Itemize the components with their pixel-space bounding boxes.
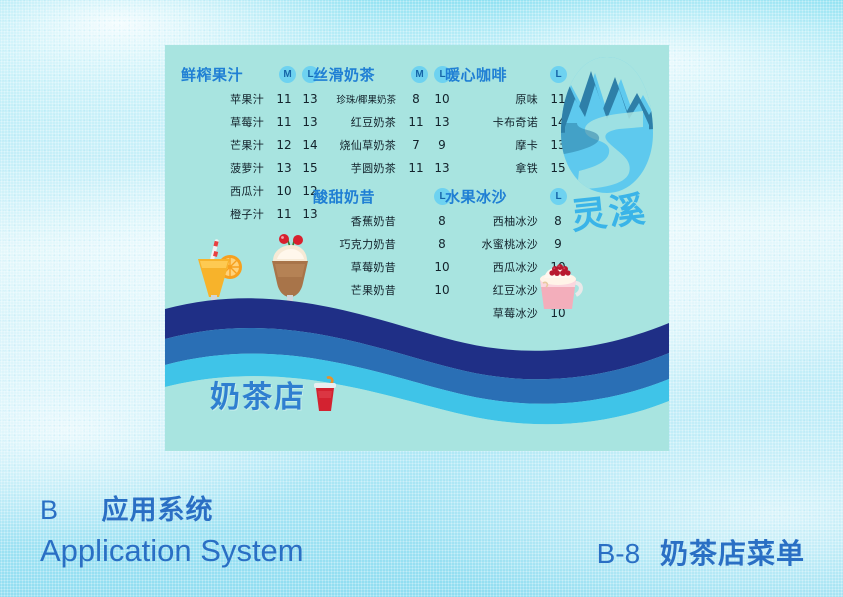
item-price-m: 12	[273, 138, 295, 152]
plate-title: 奶茶店菜单	[660, 538, 805, 569]
item-name: 苹果汁	[181, 91, 273, 107]
plate-code: B-8	[597, 538, 641, 569]
shop-name-block: 奶茶店	[210, 372, 340, 416]
item-price-m: 11	[273, 115, 295, 129]
item-name: 草莓奶昔	[313, 259, 405, 275]
size-badge-m: M	[279, 66, 296, 83]
section-title: 酸甜奶昔	[313, 186, 375, 207]
menu-item: 橙子汁 11 13	[181, 202, 321, 225]
wave-band	[165, 283, 669, 451]
section-heading: B 应用系统	[40, 488, 304, 527]
menu-item: 香蕉奶昔 8	[313, 209, 453, 232]
item-name: 西柚冰沙	[445, 213, 547, 229]
section-title: 丝滑奶茶	[313, 64, 375, 85]
item-name: 芒果汁	[181, 137, 273, 153]
section-title-cn: 应用系统	[102, 495, 214, 525]
item-name: 烧仙草奶茶	[313, 137, 405, 153]
section-header-milkshake: 酸甜奶昔 L	[313, 183, 453, 209]
caption-right: B-8 奶茶店菜单	[597, 532, 805, 572]
menu-item: 西瓜汁 10 12	[181, 179, 321, 202]
menu-item: 草莓汁 11 13	[181, 110, 321, 133]
item-price-m: 11	[273, 92, 295, 106]
menu-column-2: 丝滑奶茶 M L 珍珠/椰果奶茶 8 10 红豆奶茶 11 13 烧仙草奶茶 7…	[313, 61, 453, 301]
caption-left: B 应用系统 Application System	[40, 488, 304, 569]
menu-item: 草莓奶昔 10	[313, 255, 453, 278]
menu-item: 芒果汁 12 14	[181, 133, 321, 156]
mountain-stream-logo-icon	[559, 55, 655, 195]
item-name: 拿铁	[445, 160, 547, 176]
item-name: 卡布奇诺	[445, 114, 547, 130]
item-price-m: 10	[273, 184, 295, 198]
item-price-m: 11	[273, 207, 295, 221]
section-title: 水果冰沙	[445, 186, 507, 207]
item-price-m: 11	[405, 115, 427, 129]
size-badge-m: M	[411, 66, 428, 83]
item-name: 摩卡	[445, 137, 547, 153]
menu-column-1: 鲜榨果汁 M L 苹果汁 11 13 草莓汁 11 13 芒果汁 12 14	[181, 61, 321, 225]
item-price-m: 7	[405, 138, 427, 152]
size-badge-spacer	[411, 188, 428, 205]
item-name: 菠萝汁	[181, 160, 273, 176]
menu-item: 菠萝汁 13 15	[181, 156, 321, 179]
menu-item: 珍珠/椰果奶茶 8 10	[313, 87, 453, 110]
menu-item: 芋圆奶茶 11 13	[313, 156, 453, 179]
item-price-m: 13	[273, 161, 295, 175]
item-name: 草莓汁	[181, 114, 273, 130]
item-name: 橙子汁	[181, 206, 273, 222]
section-title: 暖心咖啡	[445, 64, 507, 85]
menu-item: 巧克力奶昔 8	[313, 232, 453, 255]
menu-item: 烧仙草奶茶 7 9	[313, 133, 453, 156]
menu-item: 红豆奶茶 11 13	[313, 110, 453, 133]
item-name: 香蕉奶昔	[313, 213, 405, 229]
brand-name: 灵溪	[551, 189, 666, 237]
item-price-m: 11	[405, 161, 427, 175]
item-name: 水蜜桃冰沙	[445, 236, 547, 252]
section-header-fresh-juice: 鲜榨果汁 M L	[181, 61, 321, 87]
item-name: 巧克力奶昔	[313, 236, 405, 252]
section-title-en: Application System	[40, 533, 304, 569]
item-name: 芋圆奶茶	[313, 160, 405, 176]
section-header-milk-tea: 丝滑奶茶 M L	[313, 61, 453, 87]
item-name: 红豆奶茶	[313, 114, 405, 130]
menu-item: 苹果汁 11 13	[181, 87, 321, 110]
item-price-m: 8	[405, 92, 427, 106]
takeaway-cup-icon	[310, 374, 340, 414]
item-name: 原味	[445, 91, 547, 107]
section-title: 鲜榨果汁	[181, 64, 243, 85]
item-name: 西瓜汁	[181, 183, 273, 199]
menu-poster: 鲜榨果汁 M L 苹果汁 11 13 草莓汁 11 13 芒果汁 12 14	[165, 45, 669, 451]
shop-name: 奶茶店	[210, 372, 306, 416]
section-letter: B	[40, 495, 59, 525]
item-name: 珍珠/椰果奶茶	[313, 92, 405, 106]
